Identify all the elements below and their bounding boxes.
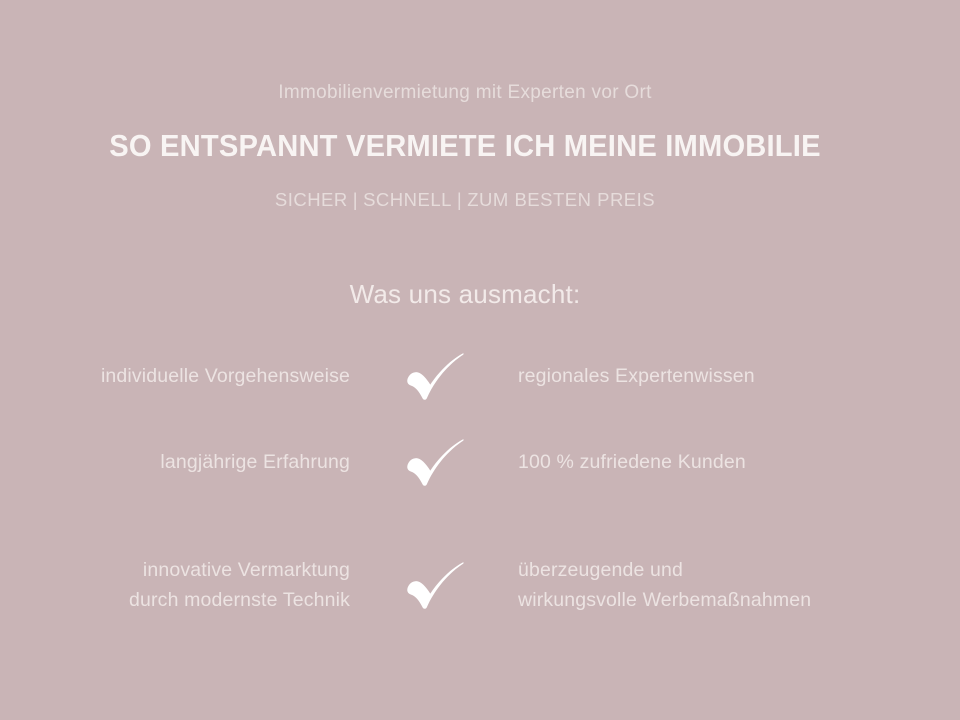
feature-icon-cell	[400, 352, 470, 400]
slide-canvas: Immobilienvermietung mit Experten vor Or…	[0, 0, 960, 720]
tagline-item-2: SCHNELL	[363, 189, 452, 210]
checkmark-icon	[406, 438, 464, 486]
features-list: individuelle Vorgehensweise regionales E…	[0, 344, 960, 628]
feature-left-text: langjährige Erfahrung	[70, 447, 400, 477]
tagline-separator-2: |	[452, 189, 467, 210]
feature-right-line: regionales Expertenwissen	[518, 361, 890, 391]
page-title: SO ENTSPANNT VERMIETE ICH MEINE IMMOBILI…	[28, 128, 902, 164]
feature-icon-cell	[400, 561, 470, 609]
feature-right-line: 100 % zufriedene Kunden	[518, 447, 890, 477]
feature-left-line: innovative Vermarktung	[70, 555, 350, 585]
feature-left-text: innovative Vermarktung durch modernste T…	[70, 555, 400, 615]
feature-left-line: durch modernste Technik	[70, 585, 350, 615]
feature-right-text: 100 % zufriedene Kunden	[470, 447, 890, 477]
tagline: SICHER|SCHNELL|ZUM BESTEN PREIS	[0, 189, 930, 211]
eyebrow-text: Immobilienvermietung mit Experten vor Or…	[0, 82, 930, 105]
feature-row: langjährige Erfahrung 100 % zufriedene K…	[0, 430, 960, 494]
header-block: Immobilienvermietung mit Experten vor Or…	[0, 0, 930, 212]
feature-right-text: regionales Expertenwissen	[470, 361, 890, 391]
feature-left-line: individuelle Vorgehensweise	[70, 361, 350, 391]
tagline-item-3: ZUM BESTEN PREIS	[467, 189, 655, 210]
section-heading: Was uns ausmacht:	[0, 278, 930, 311]
tagline-item-1: SICHER	[275, 189, 348, 210]
feature-icon-cell	[400, 438, 470, 486]
feature-row: individuelle Vorgehensweise regionales E…	[0, 344, 960, 408]
feature-row: innovative Vermarktung durch modernste T…	[0, 542, 960, 628]
feature-right-line: überzeugende und	[518, 555, 890, 585]
tagline-separator-1: |	[348, 189, 363, 210]
checkmark-icon	[406, 352, 464, 400]
feature-left-text: individuelle Vorgehensweise	[70, 361, 400, 391]
feature-right-text: überzeugende und wirkungsvolle Werbemaßn…	[470, 555, 890, 615]
feature-left-line: langjährige Erfahrung	[70, 447, 350, 477]
feature-right-line: wirkungsvolle Werbemaßnahmen	[518, 585, 890, 615]
checkmark-icon	[406, 561, 464, 609]
